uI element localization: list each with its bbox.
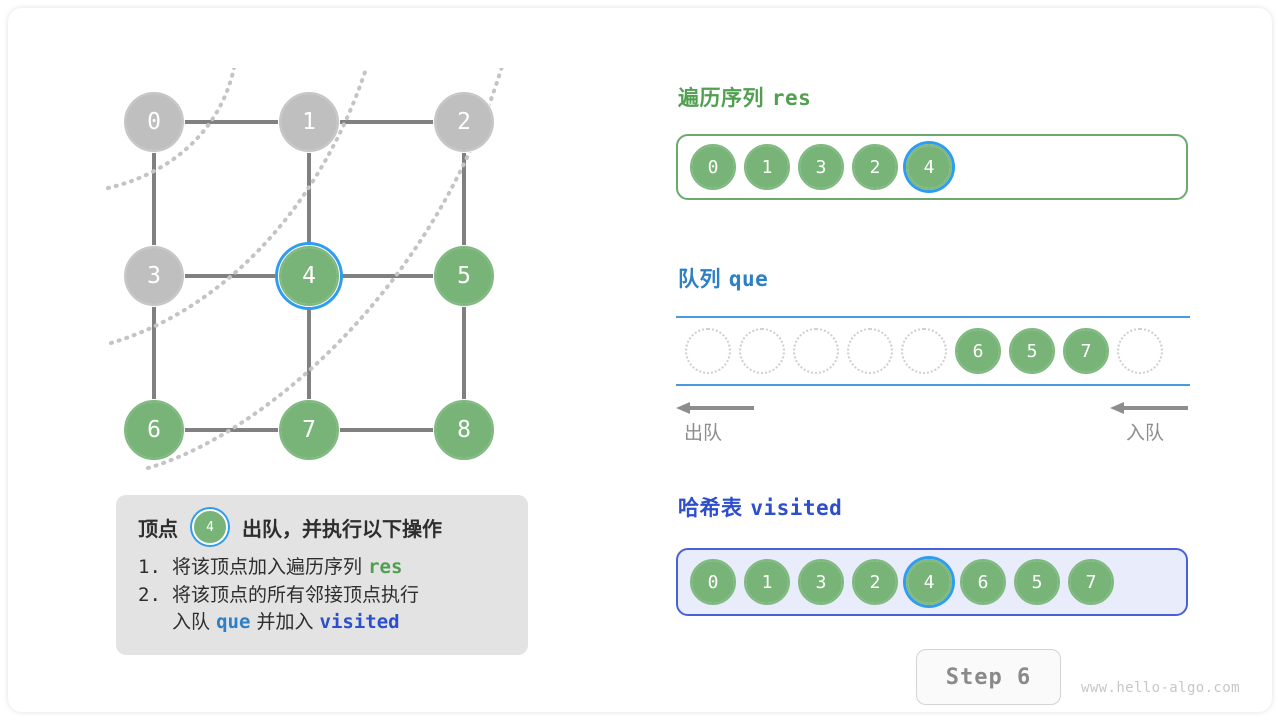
caption-head-prefix: 顶点 (138, 513, 178, 542)
res-title-code: res (772, 86, 811, 110)
graph-node-2: 2 (433, 91, 495, 153)
visited-item-5: 6 (960, 559, 1006, 605)
caption-line-2-code2: visited (320, 611, 400, 633)
graph-node-0: 0 (123, 91, 185, 153)
visited-item-0: 0 (690, 559, 736, 605)
step-description-box: 顶点 4 出队，并执行以下操作 1. 将该顶点加入遍历序列 res 2. 将该顶… (116, 495, 528, 655)
graph-node-6: 6 (123, 399, 185, 461)
enqueue-label: 入队 (1126, 418, 1164, 445)
graph-node-8: 8 (433, 399, 495, 461)
que-slot-3 (847, 328, 893, 374)
que-slot-0 (685, 328, 731, 374)
visited-hashset-box: 01324657 (676, 548, 1188, 616)
queue-arrows-row: 出队 入队 (676, 396, 1190, 450)
enqueue-arrow-icon (1110, 402, 1188, 414)
caption-line-2-text3: 并加入 (256, 611, 313, 633)
caption-line-2-num: 2. (138, 582, 172, 637)
que-slot-5: 6 (955, 328, 1001, 374)
graph-node-1: 1 (278, 91, 340, 153)
que-slot-1 (739, 328, 785, 374)
visited-item-4: 4 (906, 559, 952, 605)
que-slot-8 (1117, 328, 1163, 374)
que-slot-6: 5 (1009, 328, 1055, 374)
caption-heading: 顶点 4 出队，并执行以下操作 (138, 509, 508, 545)
graph-node-5: 5 (433, 245, 495, 307)
visited-title-code: visited (750, 496, 842, 520)
queue-slots-box: 657 (676, 316, 1190, 386)
watermark: www.hello-algo.com (1081, 680, 1240, 696)
que-slot-2 (793, 328, 839, 374)
res-title-cn: 遍历序列 (678, 86, 764, 110)
caption-line-1-num: 1. (138, 554, 172, 582)
caption-line-1: 1. 将该顶点加入遍历序列 res (138, 554, 508, 582)
dequeue-label: 出队 (684, 418, 722, 445)
visited-title-cn: 哈希表 (678, 496, 743, 520)
res-array-box: 01324 (676, 134, 1188, 200)
res-item-1: 1 (744, 144, 790, 190)
caption-vertex-chip: 4 (192, 509, 228, 545)
dequeue-arrow-icon (676, 402, 754, 414)
res-item-4: 4 (906, 144, 952, 190)
graph-panel: 012345678 (103, 68, 533, 488)
que-title-code: que (729, 267, 768, 291)
que-slot-4 (901, 328, 947, 374)
visited-item-1: 1 (744, 559, 790, 605)
caption-line-1-code: res (368, 556, 402, 578)
caption-head-suffix: 出队，并执行以下操作 (242, 513, 442, 542)
caption-line-2: 2. 将该顶点的所有邻接顶点执行 入队 que 并加入 visited (138, 582, 508, 637)
que-slot-7: 7 (1063, 328, 1109, 374)
graph-node-4: 4 (278, 245, 340, 307)
res-item-3: 2 (852, 144, 898, 190)
visited-title: 哈希表 visited (678, 492, 842, 522)
caption-line-2-code: que (216, 611, 250, 633)
graph-node-7: 7 (278, 399, 340, 461)
graph-node-3: 3 (123, 245, 185, 307)
queue-panel: 657 出队 入队 (676, 316, 1190, 450)
step-badge: Step 6 (916, 649, 1061, 705)
visited-item-7: 7 (1068, 559, 1114, 605)
res-item-0: 0 (690, 144, 736, 190)
que-title-cn: 队列 (678, 267, 721, 291)
figure-canvas: 012345678 遍历序列 res 01324 队列 que 657 出队 (8, 8, 1272, 712)
res-item-2: 3 (798, 144, 844, 190)
visited-item-6: 5 (1014, 559, 1060, 605)
caption-line-2-text2: 入队 (172, 611, 210, 633)
visited-item-2: 3 (798, 559, 844, 605)
que-title: 队列 que (678, 263, 768, 293)
res-title: 遍历序列 res (678, 82, 811, 112)
caption-line-2-text: 将该顶点的所有邻接顶点执行 (172, 584, 419, 606)
visited-item-3: 2 (852, 559, 898, 605)
caption-line-1-text: 将该顶点加入遍历序列 (172, 556, 362, 578)
